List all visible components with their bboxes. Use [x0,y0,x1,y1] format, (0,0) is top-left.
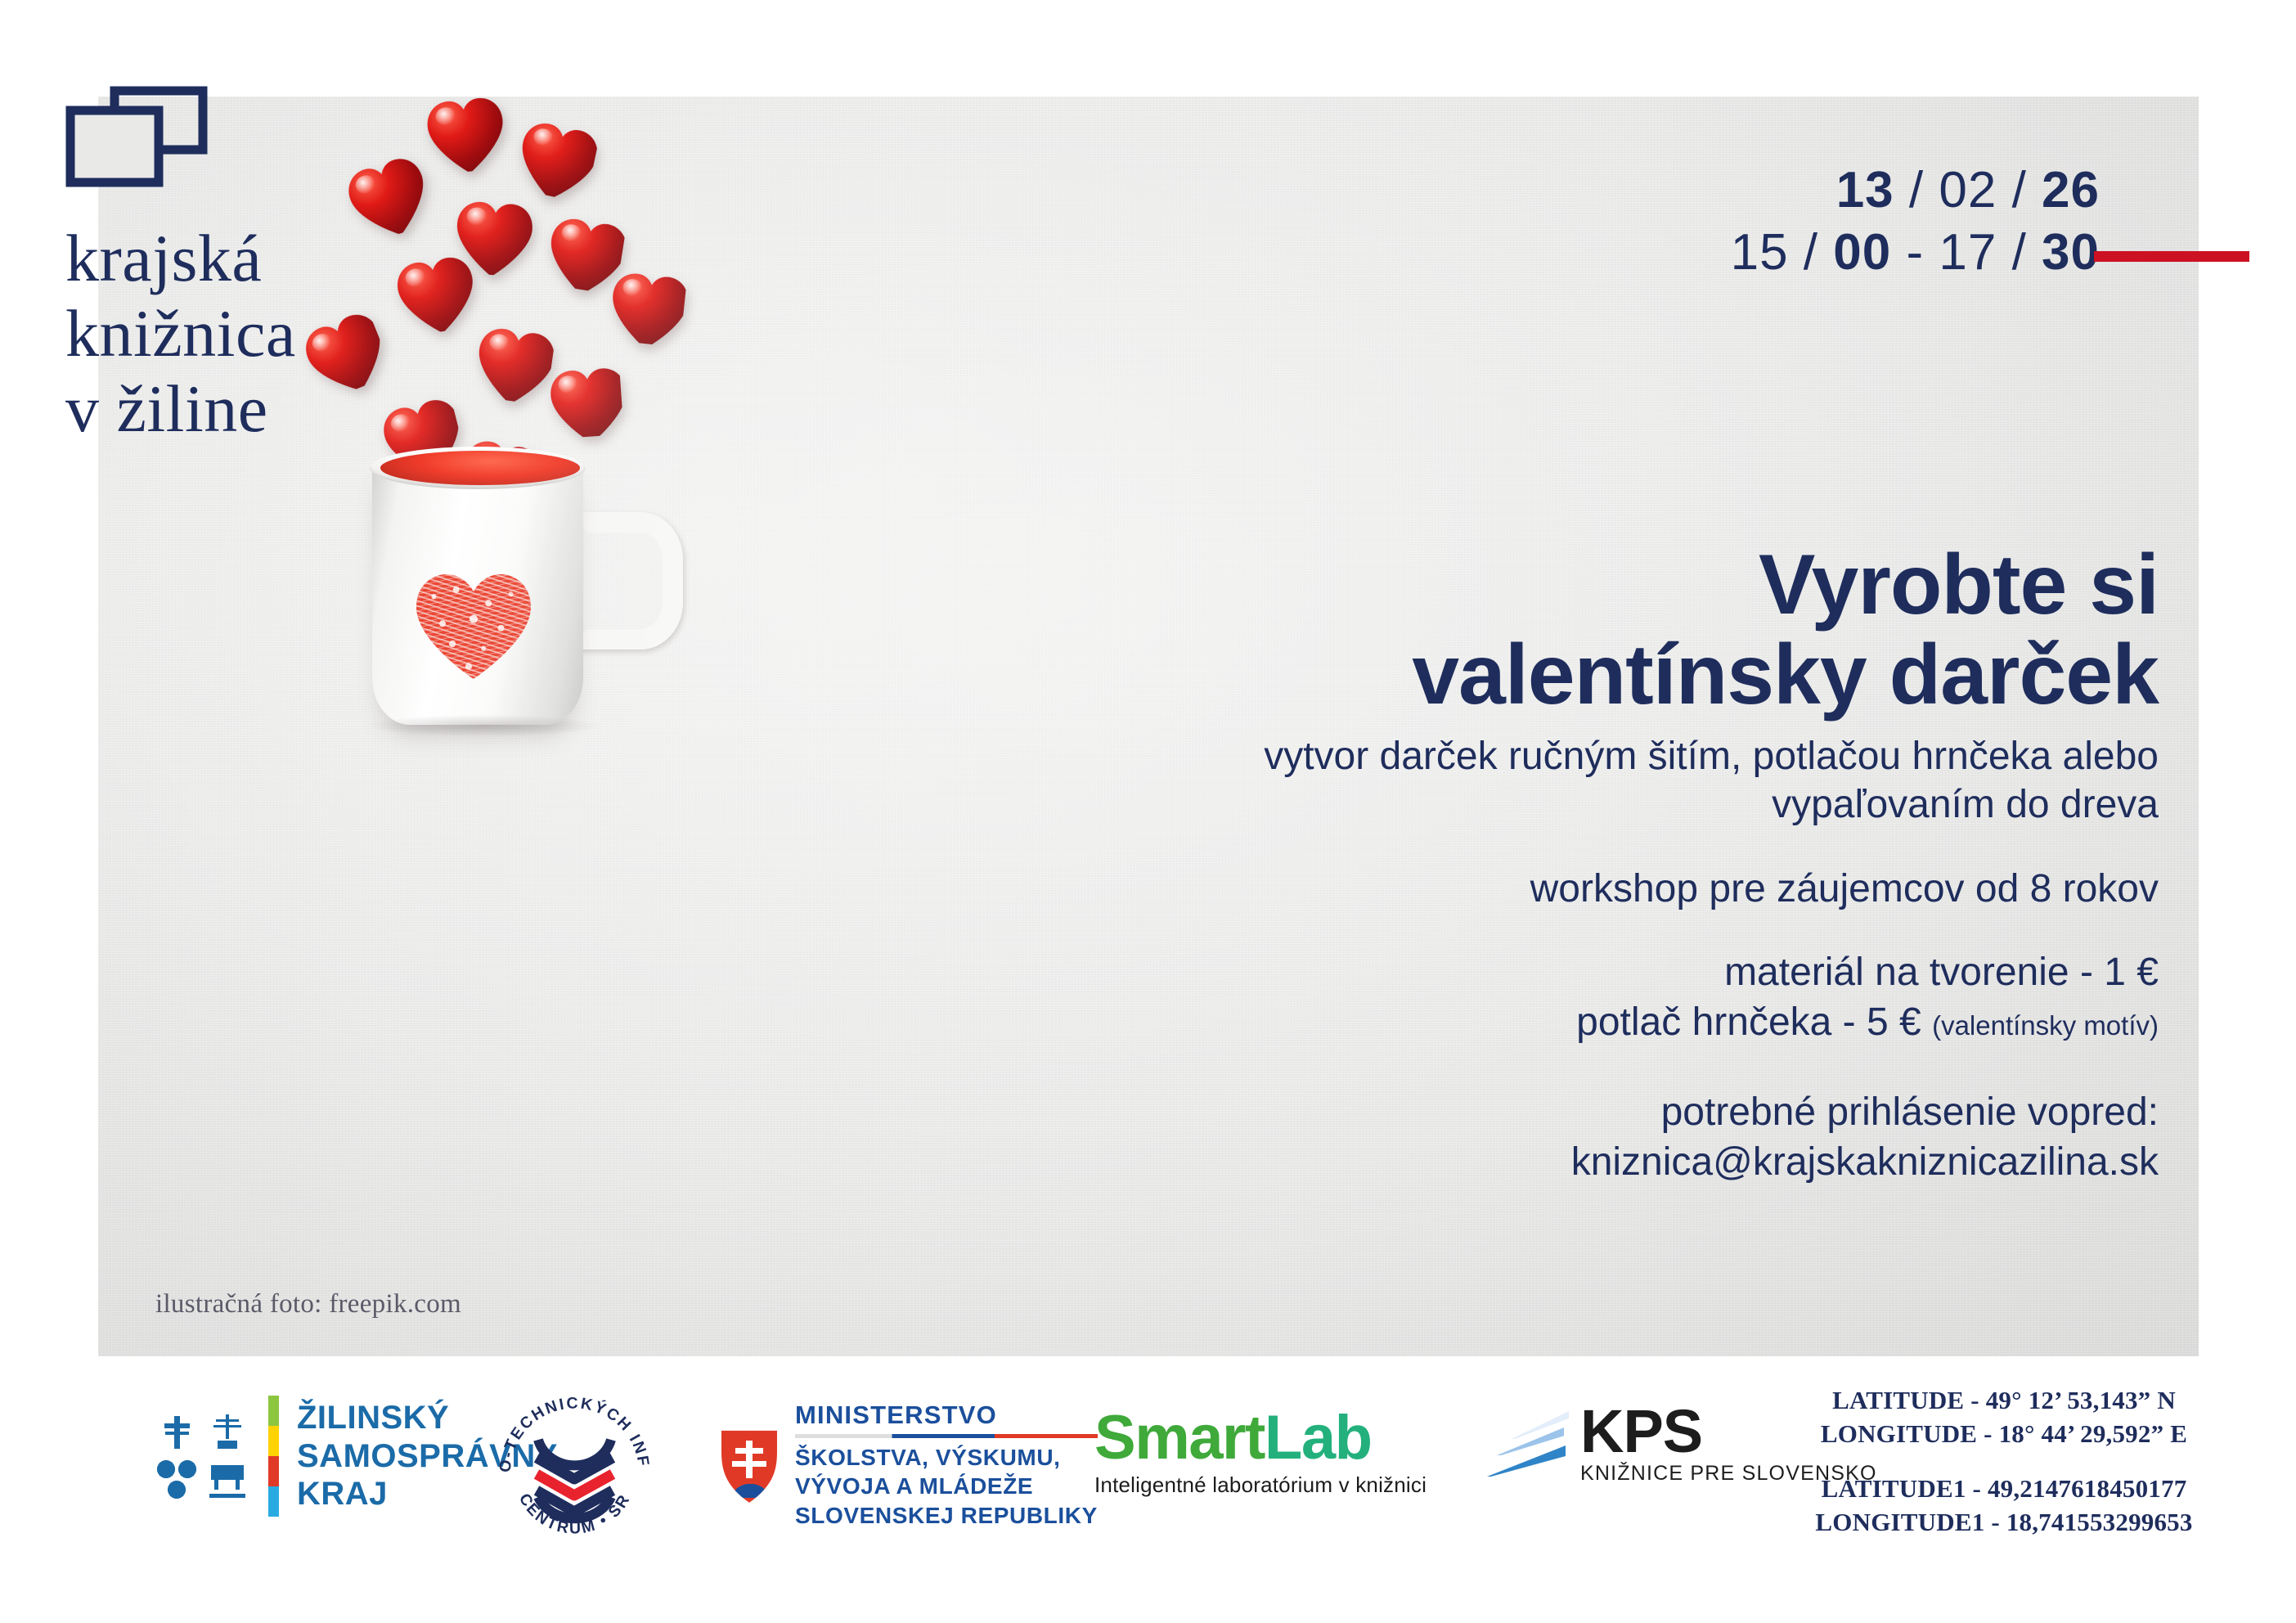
fir-tree-icon [206,1411,249,1454]
smartlab-word-lab: Lab [1265,1403,1372,1472]
ministry-line-1: ŠKOLSTVA, VÝSKUMU, [795,1443,1098,1472]
ministry-lines: ŠKOLSTVA, VÝSKUMU, VÝVOJA A MLÁDEŽE SLOV… [795,1443,1098,1530]
event-time: 15 / 00 - 17 / 30 [1731,222,2100,284]
date-day: 13 [1836,162,1894,218]
logo-cvti-sr[interactable]: VEDECKO-TECHNICKÝCH INFORMÁCIÍ CENTRUM •… [491,1389,658,1557]
wordmark-line-2: knižnica [65,296,296,371]
smartlab-tagline: Inteligentné laboratórium v knižnici [1094,1472,1427,1498]
decorative-heart [339,150,437,245]
headline-line-2: valentínsky darček [932,630,2159,720]
price-mug-note: (valentínsky motív) [1932,1010,2159,1041]
slovak-coat-of-arms-icon [720,1427,779,1503]
date-sep-1: / [1909,162,1924,218]
date-year: 26 [2042,162,2100,218]
library-wordmark: krajská knižnica v žiline [65,221,296,446]
three-hills-icon [723,1477,775,1498]
event-prices: materiál na tvorenie - 1 € potlač hrnček… [932,948,2159,1047]
kps-open-book-pages-icon [1487,1409,1572,1480]
mug-heart-print [411,569,536,682]
decorative-heart [421,97,507,176]
price-mug: potlač hrnčeka - 5 € [1576,1000,1921,1044]
decorative-heart [510,115,601,204]
time-sep-2: / [2012,224,2027,281]
headline-line-1: Vyrobte si [932,540,2159,630]
ministry-divider [795,1434,1098,1438]
bear-icon [206,1459,249,1501]
subtitle-line-2: vypaľovaním do dreva [932,781,2159,829]
signup-email[interactable]: kniznica@krajskakniznicazilina.sk [932,1138,2159,1187]
logo-ministry-of-education[interactable]: MINISTERSTVO ŠKOLSTVA, VÝSKUMU, VÝVOJA A… [720,1400,1098,1530]
ministry-wordmark: MINISTERSTVO ŠKOLSTVA, VÝSKUMU, VÝVOJA A… [795,1400,1098,1530]
coord-spacer [1791,1451,2217,1472]
patriarchal-cross-icon [155,1411,198,1454]
event-audience: workshop pre záujemcov od 8 rokov [932,865,2159,913]
photo-credit: ilustračná foto: freepik.com [155,1289,461,1320]
decorative-heart [470,322,556,406]
ministry-line-3: SLOVENSKEJ REPUBLIKY [795,1501,1098,1530]
date-sep-2: / [2012,162,2027,218]
mug-handle [567,512,683,650]
smartlab-block: SmartLab Inteligentné laboratórium v kni… [1094,1407,1427,1498]
time-end-hour: 17 [1939,224,1997,281]
date-month: 02 [1939,162,1997,218]
zilina-region-coat-of-arms-icon [155,1411,249,1501]
coord-latitude-dms: LATITUDE - 49° 12’ 53,143” N [1791,1384,2217,1418]
event-signup: potrebné prihlásenie vopred: kniznica@kr… [932,1088,2159,1187]
wordmark-line-3: v žiline [65,371,296,447]
library-logo[interactable]: krajská knižnica v žiline [65,86,296,446]
time-end-min: 30 [2042,224,2100,281]
ministry-title: MINISTERSTVO [795,1400,1098,1430]
event-date: 13 / 02 / 26 [1731,160,2100,222]
coord-longitude-dms: LONGITUDE - 18° 44’ 29,592” E [1791,1418,2217,1451]
page-title: Vyrobte si valentínsky darček [932,540,2159,720]
time-dash: - [1906,224,1924,281]
signup-label: potrebné prihlásenie vopred: [932,1088,2159,1137]
venue-coordinates: LATITUDE - 49° 12’ 53,143” N LONGITUDE -… [1791,1384,2217,1540]
event-subtitle: vytvor darček ručným šitím, potlačou hrn… [932,733,2159,829]
three-roses-icon [155,1459,198,1501]
event-datetime: 13 / 02 / 26 15 / 00 - 17 / 30 [1731,160,2100,283]
logo-smartlab[interactable]: SmartLab Inteligentné laboratórium v kni… [1094,1407,1427,1498]
price-mug-row: potlač hrnčeka - 5 € (valentínsky motív) [932,998,2159,1047]
wordmark-line-1: krajská [65,221,296,296]
ministry-line-2: VÝVOJA A MLÁDEŽE [795,1472,1098,1500]
cvti-sr-circular-icon: VEDECKO-TECHNICKÝCH INFORMÁCIÍ CENTRUM •… [491,1389,658,1557]
library-double-square-icon [65,86,209,188]
mug-body [372,463,583,725]
double-cross-icon [746,1441,753,1478]
mug-shadow [367,715,601,736]
time-start-hour: 15 [1731,224,1789,281]
red-accent-rule [2094,251,2249,262]
coord-longitude-decimal: LONGITUDE1 - 18,741553299653 [1791,1506,2217,1540]
subtitle-line-1: vytvor darček ručným šitím, potlačou hrn… [932,733,2159,781]
decorative-heart [390,251,479,338]
event-copy: Vyrobte si valentínsky darček vytvor dar… [932,540,2159,1187]
decorative-heart [546,364,624,439]
footer-logo-bar: ŽILINSKÝ SAMOSPRÁVNY KRAJ VEDECKO-TECHNI… [0,1364,2296,1569]
decorative-heart [295,306,394,403]
smartlab-wordmark: SmartLab [1094,1407,1427,1469]
coffee-mug-illustration [372,440,642,726]
mug-inner-red [380,451,580,485]
coord-latitude-decimal: LATITUDE1 - 49,2147618450177 [1791,1472,2217,1506]
price-material: materiál na tvorenie - 1 € [932,948,2159,997]
decorative-heart [605,268,688,347]
kps-page-dark [1487,1445,1566,1477]
zsk-color-bars [268,1396,279,1517]
time-start-min: 00 [1833,224,1891,281]
smartlab-word-smart: Smart [1094,1403,1265,1472]
time-sep-1: / [1804,224,1818,281]
